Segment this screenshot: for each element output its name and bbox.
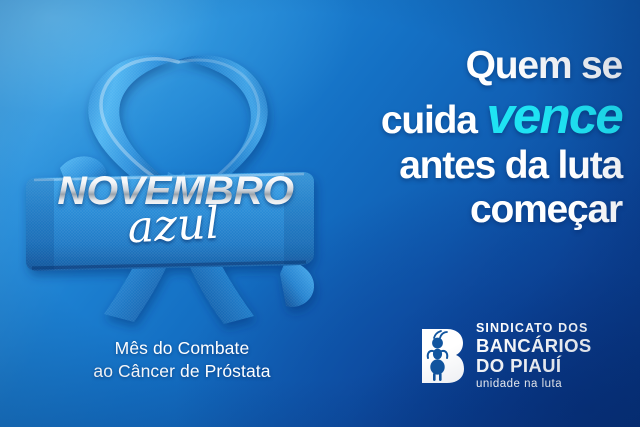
tagline-line-1: Mês do Combate <box>42 337 322 360</box>
sindicato-bancarios-b-mark-icon <box>418 327 466 385</box>
headline-line-4: começar <box>252 188 622 232</box>
sindicato-logo-text: SINDICATO DOS BANCÁRIOS DO PIAUÍ unidade… <box>476 322 592 390</box>
sindicato-logo: SINDICATO DOS BANCÁRIOS DO PIAUÍ unidade… <box>418 322 592 390</box>
logo-line-2: BANCÁRIOS <box>476 337 592 356</box>
campaign-tagline: Mês do Combate ao Câncer de Próstata <box>42 337 322 383</box>
headline: Quem se cuida vence antes da luta começa… <box>252 44 622 232</box>
logo-line-4: unidade na luta <box>476 379 592 391</box>
headline-line-3: antes da luta <box>252 144 622 188</box>
poster-canvas: NOVEMBRO azul Mês do Combate ao Câncer d… <box>0 0 640 427</box>
logo-line-1: SINDICATO DOS <box>476 322 592 335</box>
headline-highlight-vence: vence <box>486 87 622 144</box>
headline-line-2-prefix: cuida <box>381 99 477 142</box>
headline-line-2: cuida vence <box>252 90 622 141</box>
headline-line-1: Quem se <box>252 44 622 88</box>
logo-line-3: DO PIAUÍ <box>476 357 592 376</box>
tagline-line-2: ao Câncer de Próstata <box>42 360 322 383</box>
